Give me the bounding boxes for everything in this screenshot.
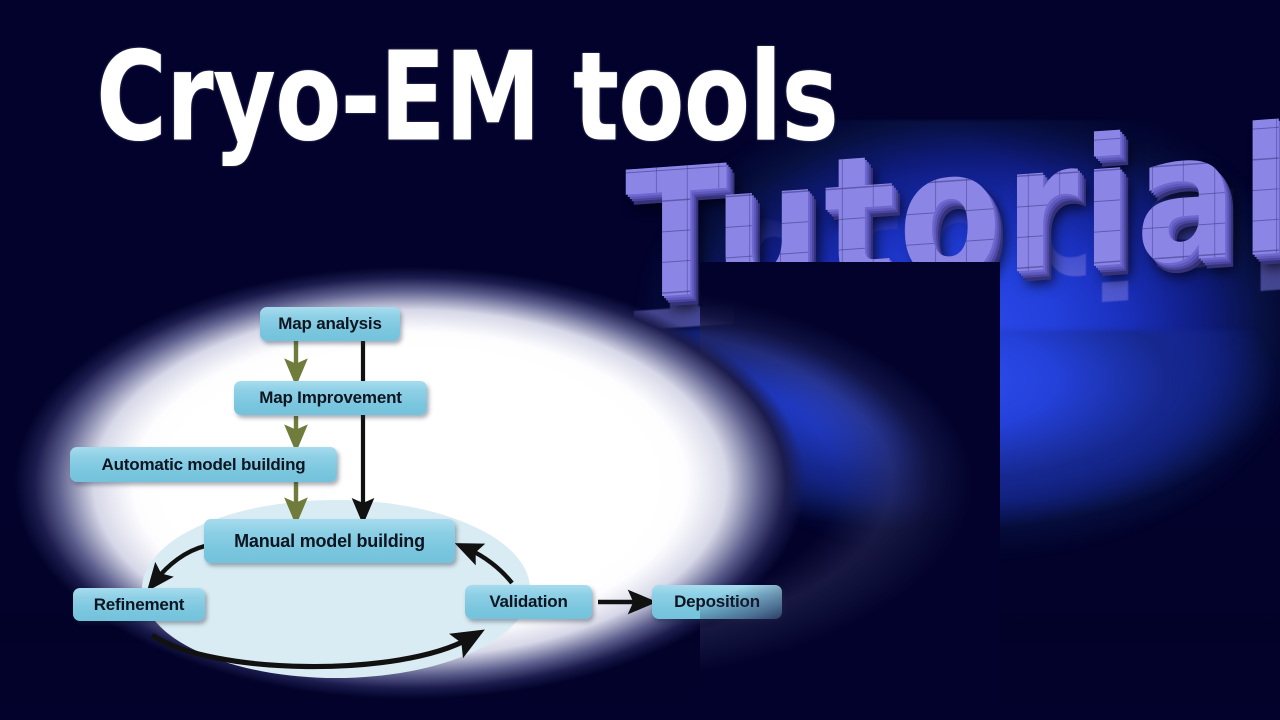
node-automatic-model-building[interactable]: Automatic model building: [70, 447, 337, 482]
node-map-improvement-label: Map Improvement: [259, 388, 401, 408]
edge-refinement-to-validation: [152, 635, 470, 667]
slide-canvas: Tutorial Tutorial Tutorial Cryo-EM tools: [0, 0, 1280, 720]
node-deposition-label: Deposition: [674, 592, 760, 612]
edge-validation-to-manual-model-building: [468, 549, 512, 583]
node-manual-model-building-label: Manual model building: [234, 531, 425, 552]
node-refinement-label: Refinement: [94, 595, 185, 615]
node-map-improvement[interactable]: Map Improvement: [234, 381, 427, 415]
node-map-analysis[interactable]: Map analysis: [260, 307, 400, 341]
node-map-analysis-label: Map analysis: [278, 314, 381, 334]
cryo-em-workflow-diagram: Map analysis Map Improvement Automatic m…: [0, 0, 1280, 720]
node-refinement[interactable]: Refinement: [73, 588, 205, 621]
node-deposition[interactable]: Deposition: [652, 585, 782, 619]
node-automatic-model-building-label: Automatic model building: [102, 455, 306, 475]
node-manual-model-building[interactable]: Manual model building: [204, 519, 455, 563]
node-validation-label: Validation: [489, 592, 567, 612]
node-validation[interactable]: Validation: [465, 585, 592, 619]
edge-manual-model-building-to-refinement: [156, 546, 205, 580]
